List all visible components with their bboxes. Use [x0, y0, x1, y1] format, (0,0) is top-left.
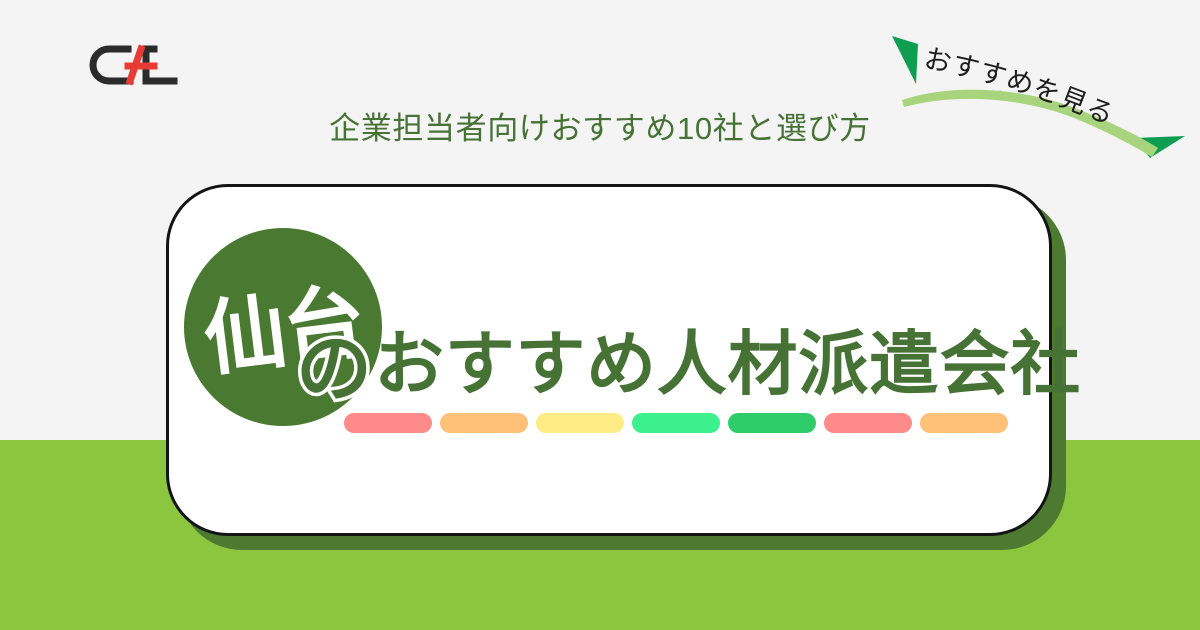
badge-label: おすすめを見る [922, 43, 1119, 130]
color-pill [632, 413, 720, 433]
color-pill [920, 413, 1008, 433]
cal-logo-icon [84, 44, 188, 86]
recommendation-badge[interactable]: おすすめを見る [880, 14, 1200, 164]
left-wedge-mark [892, 36, 918, 84]
color-pill [728, 413, 816, 433]
heading-main-text: おすすめ人材派遣会社 [374, 329, 1081, 399]
color-pill [344, 413, 432, 433]
main-heading: の おすすめ人材派遣会社 [296, 316, 1081, 412]
color-pill [440, 413, 528, 433]
poster-canvas: 企業担当者向けおすすめ10社と選び方 おすすめを見る [0, 0, 1200, 630]
color-pills-row [344, 413, 1008, 433]
color-pill [536, 413, 624, 433]
heading-particle: の [296, 332, 372, 408]
color-pill [824, 413, 912, 433]
cal-logo[interactable] [84, 44, 188, 86]
